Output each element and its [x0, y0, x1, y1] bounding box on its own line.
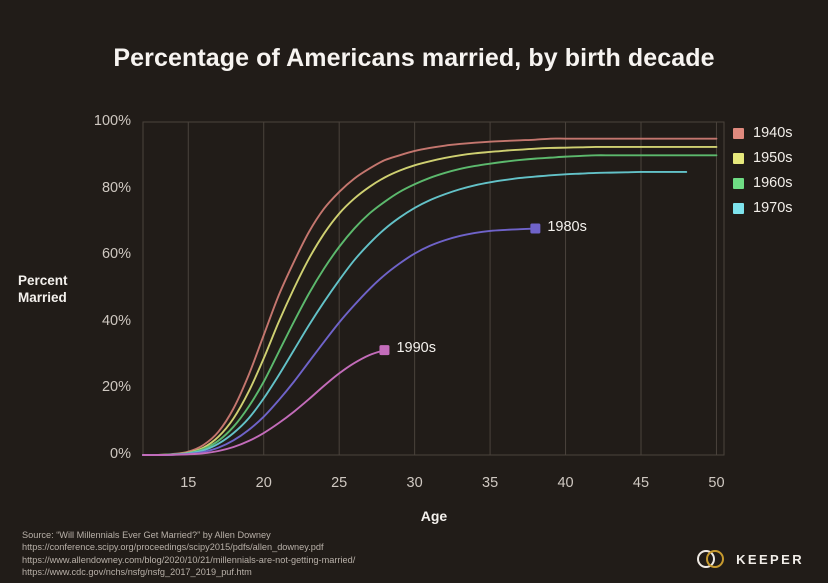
legend-swatch-icon: [733, 128, 744, 139]
y-axis-title-line1: Percent: [18, 272, 96, 289]
legend-swatch-icon: [733, 153, 744, 164]
x-axis-title: Age: [143, 508, 725, 524]
legend-item-label: 1970s: [753, 200, 793, 216]
ring-gold-icon: [706, 550, 724, 568]
legend-item-1960s[interactable]: 1960s: [733, 172, 793, 194]
series-line-1940s: [143, 139, 716, 456]
y-tick-100: 100%: [71, 113, 131, 129]
x-tick-45: 45: [616, 475, 666, 491]
legend-item-label: 1960s: [753, 175, 793, 191]
legend-item-1950s[interactable]: 1950s: [733, 147, 793, 169]
chart-plot: [0, 0, 828, 583]
source-line-2[interactable]: https://conference.scipy.org/proceedings…: [22, 541, 355, 553]
y-axis-title: Percent Married: [18, 272, 96, 306]
series-line-1950s: [143, 147, 716, 455]
x-tick-50: 50: [691, 475, 741, 491]
x-tick-30: 30: [390, 475, 440, 491]
legend-item-label: 1940s: [753, 125, 793, 141]
legend-item-1970s[interactable]: 1970s: [733, 197, 793, 219]
brand-logo: KEEPER: [697, 550, 804, 569]
legend-swatch-icon: [733, 178, 744, 189]
legend-item-1940s[interactable]: 1940s: [733, 122, 793, 144]
x-tick-15: 15: [163, 475, 213, 491]
x-tick-35: 35: [465, 475, 515, 491]
source-line-4[interactable]: https://www.cdc.gov/nchs/nsfg/nsfg_2017_…: [22, 566, 355, 578]
brand-name: KEEPER: [736, 552, 804, 567]
source-line-1: Source: “Will Millennials Ever Get Marri…: [22, 529, 355, 541]
inline-label-1980s: 1980s: [547, 219, 587, 235]
legend-item-label: 1950s: [753, 150, 793, 166]
y-tick-60: 60%: [71, 246, 131, 262]
inline-label-1990s: 1990s: [396, 340, 436, 356]
x-tick-20: 20: [239, 475, 289, 491]
source-line-3[interactable]: https://www.allendowney.com/blog/2020/10…: [22, 554, 355, 566]
chart-root: Percentage of Americans married, by birt…: [0, 0, 828, 583]
legend-swatch-icon: [733, 203, 744, 214]
keeper-rings-icon: [697, 550, 727, 569]
x-tick-25: 25: [314, 475, 364, 491]
y-tick-80: 80%: [71, 180, 131, 196]
series-paths: [143, 139, 716, 456]
x-tick-40: 40: [541, 475, 591, 491]
endpoint-markers: [379, 224, 540, 356]
y-tick-0: 0%: [71, 446, 131, 462]
series-endpoint-marker-1990s: [379, 345, 389, 355]
y-tick-20: 20%: [71, 379, 131, 395]
y-tick-40: 40%: [71, 313, 131, 329]
series-endpoint-marker-1980s: [530, 224, 540, 234]
y-axis-title-line2: Married: [18, 289, 96, 306]
source-citation: Source: “Will Millennials Ever Get Marri…: [22, 529, 355, 579]
chart-legend: 1940s1950s1960s1970s: [733, 122, 793, 222]
